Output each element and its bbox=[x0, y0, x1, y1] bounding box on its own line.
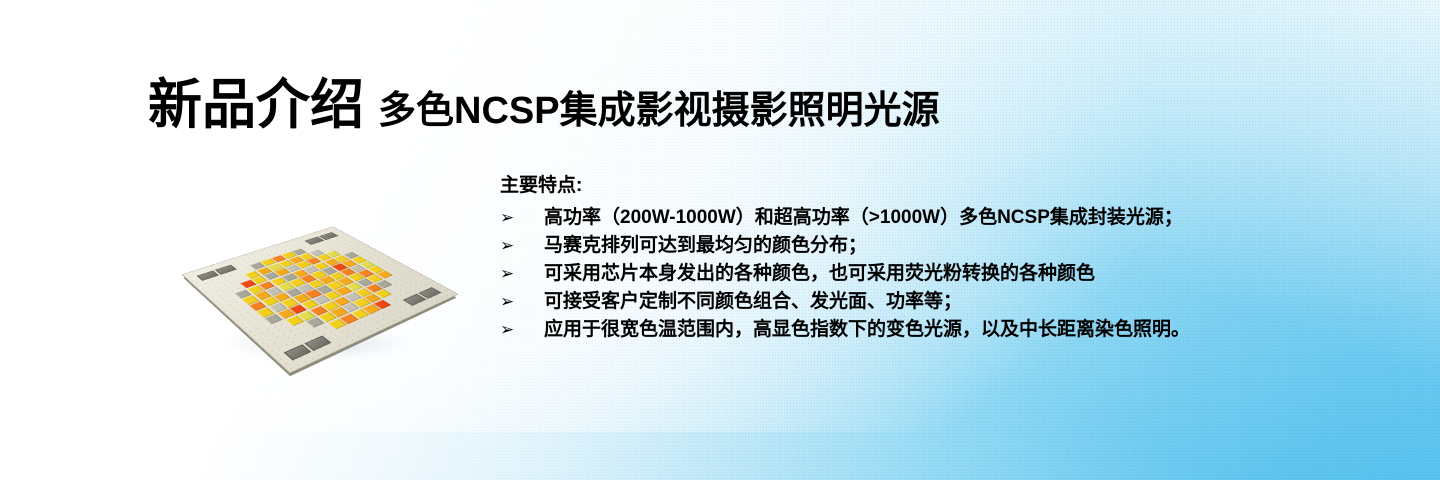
feature-item-label: 高功率（200W-1000W）和超高功率（>1000W）多色NCSP集成封装光源… bbox=[544, 206, 1183, 230]
title-main-text: 新品介绍 bbox=[148, 78, 364, 132]
feature-item-label: 可采用芯片本身发出的各种颜色，也可采用荧光粉转换的各种颜色 bbox=[544, 262, 1095, 286]
led-module-image bbox=[196, 176, 446, 366]
bullet-arrow-icon: ➢ bbox=[500, 262, 544, 286]
bullet-arrow-icon: ➢ bbox=[500, 234, 544, 258]
page-title: 新品介绍 多色NCSP集成影视摄影照明光源 bbox=[148, 78, 940, 132]
features-block: 主要特点: ➢高功率（200W-1000W）和超高功率（>1000W）多色NCS… bbox=[500, 176, 1190, 346]
feature-item: ➢可采用芯片本身发出的各种颜色，也可采用荧光粉转换的各种颜色 bbox=[500, 262, 1190, 290]
slide-canvas: 新品介绍 多色NCSP集成影视摄影照明光源 主要特点: ➢高功率（200W- bbox=[0, 0, 1440, 480]
feature-item-label: 马赛克排列可达到最均匀的颜色分布； bbox=[544, 234, 867, 258]
led-module-stage bbox=[196, 176, 446, 366]
led-substrate bbox=[183, 227, 457, 372]
feature-item: ➢可接受客户定制不同颜色组合、发光面、功率等； bbox=[500, 290, 1190, 318]
feature-item-label: 可接受客户定制不同颜色组合、发光面、功率等； bbox=[544, 290, 962, 314]
title-sub-text: 多色NCSP集成影视摄影照明光源 bbox=[378, 92, 940, 130]
feature-item-label: 应用于很宽色温范围内，高显色指数下的变色光源，以及中长距离染色照明。 bbox=[544, 318, 1190, 342]
feature-item: ➢马赛克排列可达到最均匀的颜色分布； bbox=[500, 234, 1190, 262]
bullet-arrow-icon: ➢ bbox=[500, 318, 544, 342]
features-heading: 主要特点: bbox=[500, 176, 1190, 195]
features-list: ➢高功率（200W-1000W）和超高功率（>1000W）多色NCSP集成封装光… bbox=[500, 206, 1190, 346]
feature-item: ➢高功率（200W-1000W）和超高功率（>1000W）多色NCSP集成封装光… bbox=[500, 206, 1190, 234]
feature-item: ➢应用于很宽色温范围内，高显色指数下的变色光源，以及中长距离染色照明。 bbox=[500, 318, 1190, 346]
bullet-arrow-icon: ➢ bbox=[500, 206, 544, 230]
bullet-arrow-icon: ➢ bbox=[500, 290, 544, 314]
